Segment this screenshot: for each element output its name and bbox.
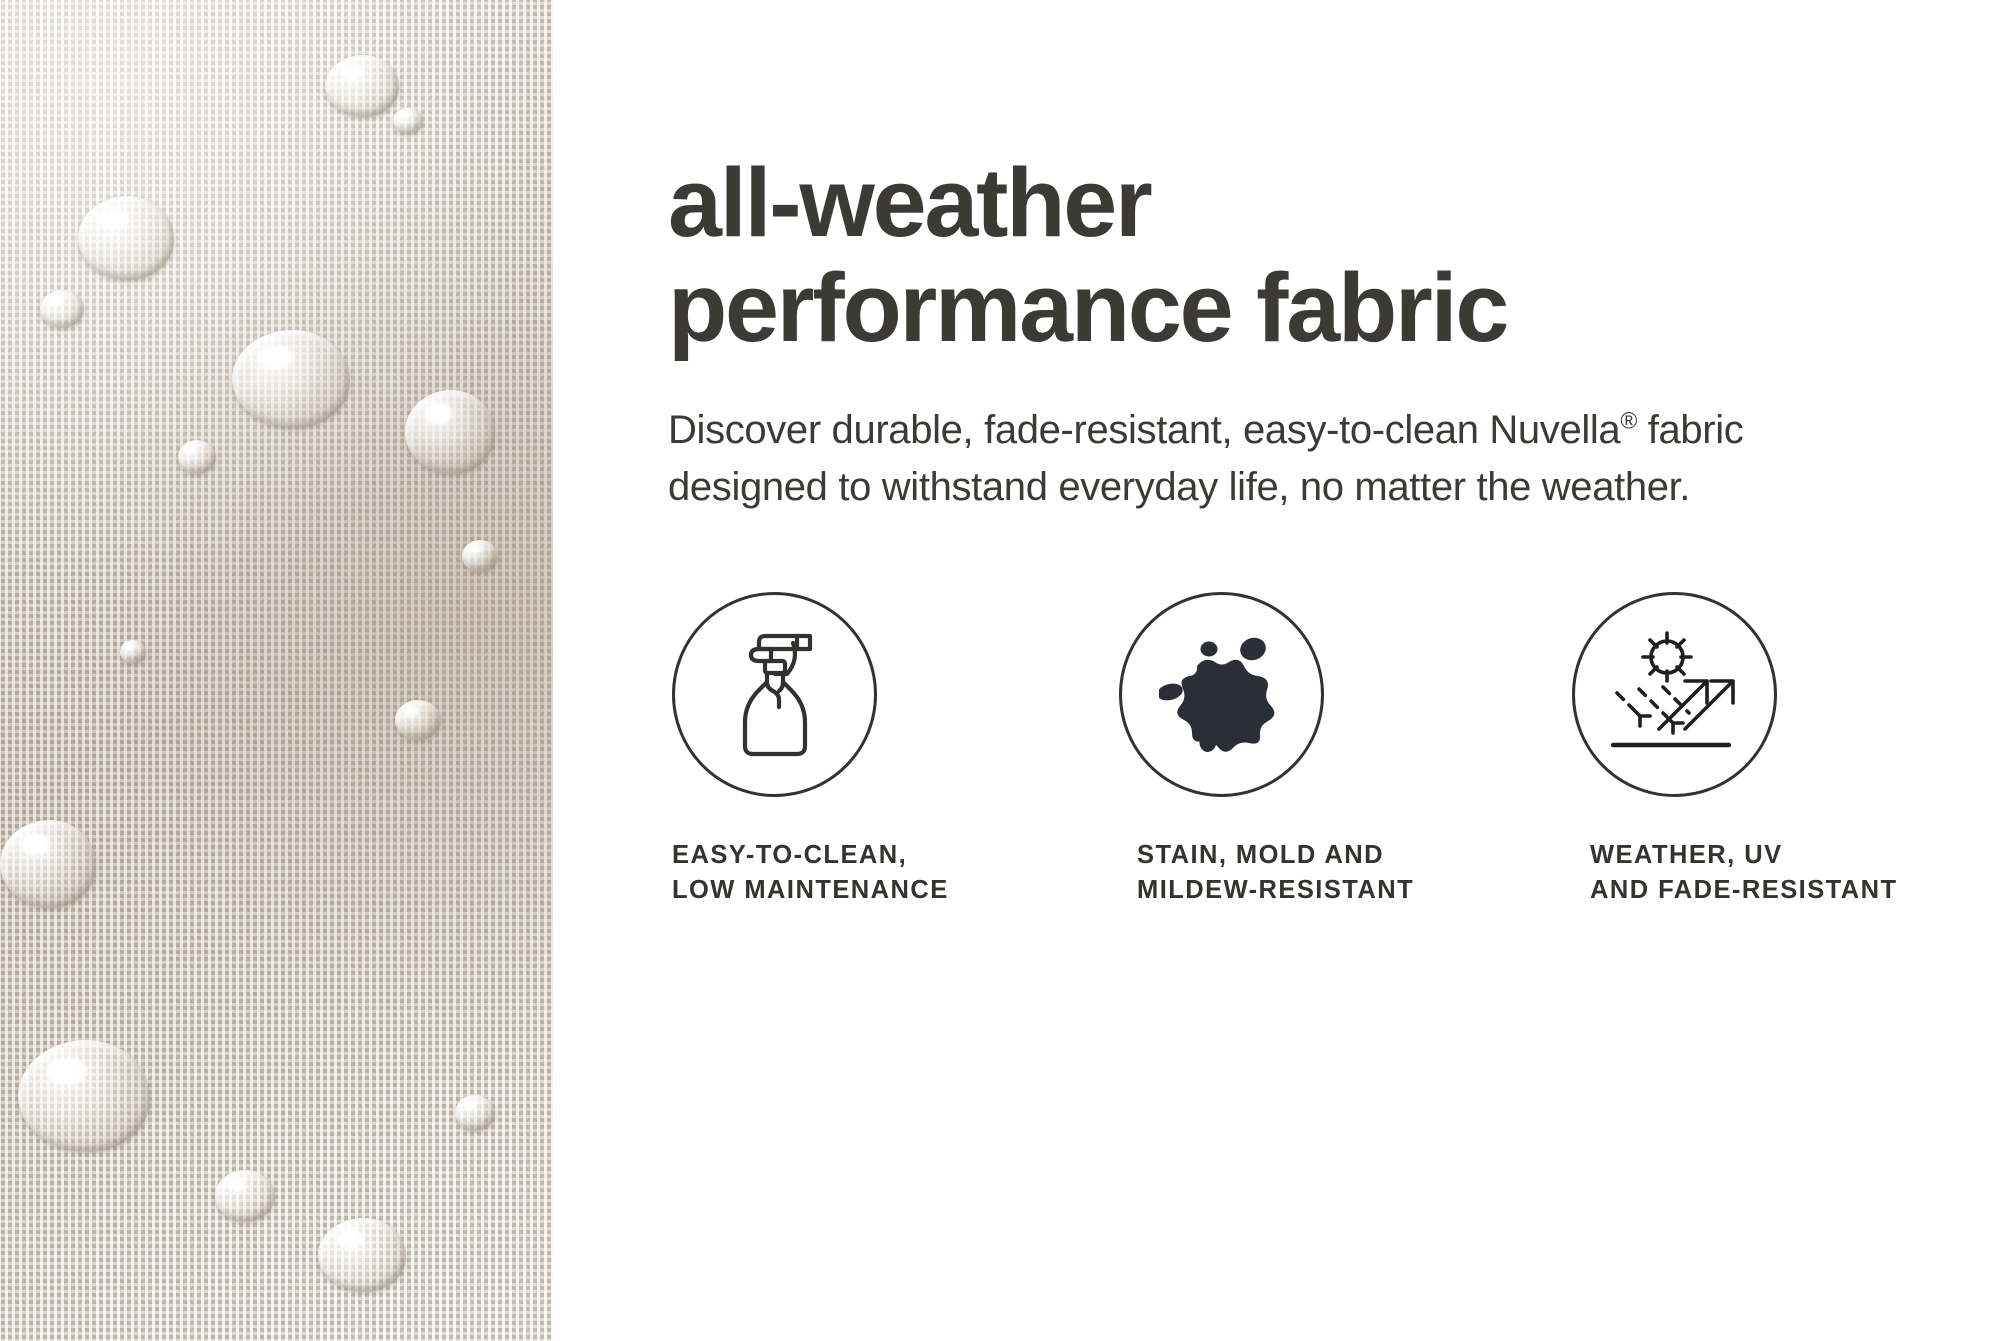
water-droplet — [232, 330, 350, 428]
feature-item-easy-to-clean: EASY-TO-CLEAN, LOW MAINTENANCE — [672, 592, 1127, 907]
water-droplet — [325, 55, 399, 117]
water-droplet — [120, 640, 146, 664]
headline-line-1: all-weather — [668, 148, 1151, 257]
water-droplet — [40, 290, 84, 328]
feature-icon-circle — [672, 592, 877, 797]
feature-caption: EASY-TO-CLEAN, LOW MAINTENANCE — [672, 838, 1127, 907]
water-droplet — [395, 700, 441, 740]
content-panel: all-weather performance fabric Discover … — [553, 0, 2010, 1341]
water-droplet — [455, 1095, 495, 1131]
water-droplet — [0, 820, 96, 908]
water-droplet — [462, 540, 498, 572]
water-droplet — [318, 1218, 406, 1292]
water-droplet — [393, 108, 423, 134]
sun-uv-fade-icon — [1607, 631, 1743, 759]
page-title: all-weather performance fabric — [668, 150, 1958, 360]
feature-item-stain-resistant: STAIN, MOLD AND MILDEW-RESISTANT — [1127, 592, 1582, 907]
registered-trademark-mark: ® — [1620, 408, 1637, 434]
all-weather-fabric-banner: all-weather performance fabric Discover … — [0, 0, 2010, 1341]
subtitle-before-mark: Discover durable, fade-resistant, easy-t… — [668, 408, 1620, 452]
subtitle-text: Discover durable, fade-resistant, easy-t… — [668, 402, 1898, 515]
water-droplet — [18, 1040, 150, 1152]
water-droplet — [178, 440, 216, 474]
fabric-photo — [0, 0, 553, 1341]
feature-icon-circle — [1119, 592, 1324, 797]
feature-caption: STAIN, MOLD AND MILDEW-RESISTANT — [1137, 838, 1582, 907]
feature-caption: WEATHER, UV AND FADE-RESISTANT — [1590, 838, 2010, 907]
water-droplet — [215, 1170, 275, 1222]
feature-item-uv-fade-resistant: WEATHER, UV AND FADE-RESISTANT — [1582, 592, 2010, 907]
water-droplet — [405, 390, 495, 474]
water-droplet — [78, 196, 174, 280]
headline-line-2: performance fabric — [668, 253, 1507, 362]
feature-list: EASY-TO-CLEAN, LOW MAINTENANCE STAIN, MO… — [668, 592, 2010, 907]
spray-bottle-icon — [715, 628, 835, 762]
feature-icon-circle — [1572, 592, 1777, 797]
stain-splat-icon — [1159, 636, 1285, 754]
